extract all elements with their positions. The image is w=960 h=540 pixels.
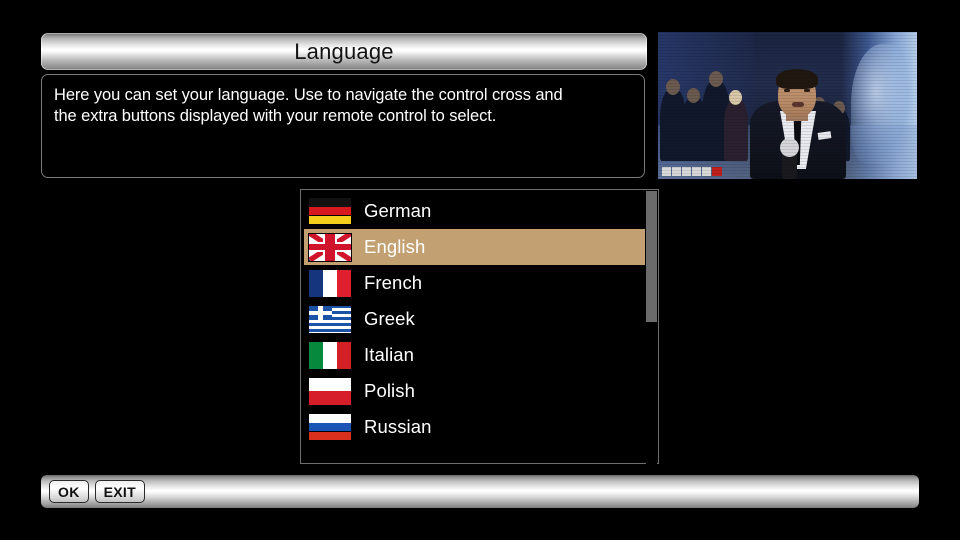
flag-united-kingdom-icon bbox=[309, 234, 351, 261]
list-item-label: German bbox=[364, 202, 431, 221]
bottom-action-bar: OK EXIT bbox=[41, 475, 919, 508]
list-item-english[interactable]: English bbox=[304, 229, 645, 265]
list-item-label: French bbox=[364, 274, 422, 293]
description-text: Here you can set your language. Use to n… bbox=[54, 85, 632, 127]
list-item-greek[interactable]: Greek bbox=[304, 301, 645, 337]
list-scrollbar-track[interactable] bbox=[646, 191, 657, 464]
language-list: German English bbox=[304, 193, 645, 445]
language-list-panel: German English bbox=[300, 189, 659, 464]
list-item-german[interactable]: German bbox=[304, 193, 645, 229]
osd-screen: Language Here you can set your language.… bbox=[0, 0, 960, 540]
description-panel: Here you can set your language. Use to n… bbox=[41, 74, 645, 178]
list-item-label: Italian bbox=[364, 346, 414, 365]
list-item-label: Polish bbox=[364, 382, 415, 401]
exit-button[interactable]: EXIT bbox=[95, 480, 145, 503]
video-scanlines bbox=[658, 32, 917, 179]
list-item-label: Russian bbox=[364, 418, 432, 437]
flag-russia-icon bbox=[309, 414, 351, 441]
page-title: Language bbox=[294, 41, 393, 63]
flag-greece-icon bbox=[309, 306, 351, 333]
flag-poland-icon bbox=[309, 378, 351, 405]
ok-button[interactable]: OK bbox=[49, 480, 89, 503]
title-bar: Language bbox=[41, 33, 647, 70]
list-item-label: English bbox=[364, 238, 425, 257]
flag-germany-icon bbox=[309, 198, 351, 225]
list-item-french[interactable]: French bbox=[304, 265, 645, 301]
flag-france-icon bbox=[309, 270, 351, 297]
list-item-label: Greek bbox=[364, 310, 415, 329]
flag-italy-icon bbox=[309, 342, 351, 369]
list-item-italian[interactable]: Italian bbox=[304, 337, 645, 373]
list-item-russian[interactable]: Russian bbox=[304, 409, 645, 445]
list-item-polish[interactable]: Polish bbox=[304, 373, 645, 409]
list-scrollbar-thumb[interactable] bbox=[646, 191, 657, 322]
live-tv-preview[interactable] bbox=[658, 32, 917, 179]
